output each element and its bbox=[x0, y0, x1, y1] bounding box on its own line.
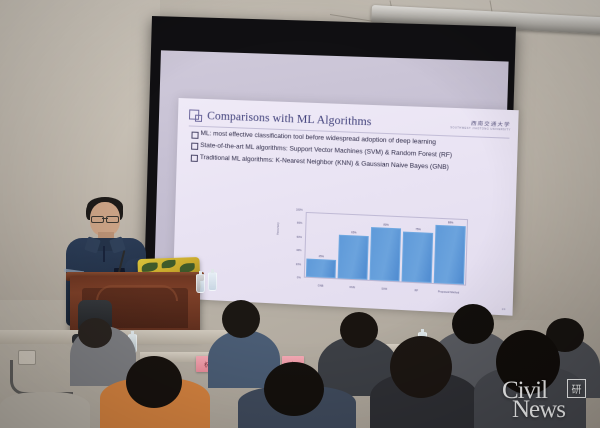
y-axis-label: Accuracy bbox=[277, 222, 280, 235]
podium-arch-trim bbox=[96, 285, 178, 301]
bar-column: 88% bbox=[435, 219, 465, 285]
y-tick-label: 0% bbox=[284, 276, 300, 280]
projection-surface: Comparisons with ML Algorithms 西南交通大学 SO… bbox=[154, 50, 508, 295]
x-tick-label: RF bbox=[402, 289, 430, 293]
bar-column: 80% bbox=[370, 216, 400, 281]
x-tick-label: GNB bbox=[307, 284, 335, 288]
bar-column: 65% bbox=[339, 214, 369, 279]
y-tick-label: 100% bbox=[286, 208, 302, 212]
bar bbox=[401, 231, 433, 283]
slide-title: Comparisons with ML Algorithms bbox=[207, 110, 372, 128]
audience-head bbox=[78, 318, 112, 348]
bar bbox=[369, 227, 401, 282]
bar-value-label: 25% bbox=[319, 255, 324, 258]
polo-placket bbox=[103, 246, 105, 262]
bar-value-label: 65% bbox=[351, 231, 356, 234]
audience-head bbox=[126, 356, 182, 408]
audience-head bbox=[452, 304, 494, 344]
watermark-line-2: News bbox=[512, 397, 565, 422]
y-tick-label: 40% bbox=[285, 249, 301, 253]
bar bbox=[306, 259, 336, 278]
bar bbox=[434, 224, 466, 284]
audience-head bbox=[340, 312, 378, 348]
bar-column: 25% bbox=[307, 213, 337, 278]
floor-cable bbox=[10, 360, 73, 395]
y-tick-label: 80% bbox=[286, 222, 302, 226]
watermark: Civil 研 News bbox=[498, 378, 594, 424]
presentation-photo: Comparisons with ML Algorithms 西南交通大学 SO… bbox=[0, 0, 600, 428]
bar bbox=[338, 235, 369, 280]
audience-head bbox=[264, 362, 324, 416]
accuracy-bar-chart: Accuracy 100%80%60%40%20%0% 25%65%80%75%… bbox=[278, 209, 479, 300]
y-tick-label: 60% bbox=[286, 235, 302, 239]
projector-screen: Comparisons with ML Algorithms 西南交通大学 SO… bbox=[144, 16, 516, 304]
watermark-badge: 研 bbox=[567, 379, 586, 398]
slide-bullet-list: ML: most effective classification tool b… bbox=[191, 130, 508, 179]
square-bullet-icon bbox=[191, 155, 198, 162]
audience-head bbox=[222, 300, 260, 338]
bar-series: 25%65%80%75%88% bbox=[305, 213, 467, 285]
bar-value-label: 75% bbox=[415, 228, 420, 231]
bar-value-label: 88% bbox=[448, 221, 454, 224]
x-tick-label: Proposed Method bbox=[434, 290, 462, 294]
slide-number: 24 bbox=[502, 307, 506, 311]
square-bullet-icon bbox=[191, 131, 198, 138]
water-bottle bbox=[208, 272, 217, 291]
audience-head bbox=[390, 336, 452, 398]
water-bottle bbox=[196, 274, 205, 293]
glasses-icon bbox=[91, 216, 119, 221]
presentation-slide: Comparisons with ML Algorithms 西南交通大学 SO… bbox=[173, 98, 519, 316]
bar-column: 75% bbox=[403, 217, 433, 283]
audience-member-foreground bbox=[0, 392, 90, 428]
bar-value-label: 80% bbox=[383, 223, 388, 226]
y-axis-ticks: 100%80%60%40%20%0% bbox=[280, 209, 302, 278]
x-tick-label: KNN bbox=[338, 285, 366, 289]
square-bullet-icon bbox=[191, 143, 198, 150]
x-axis-ticks: GNBKNNSVMRFProposed Method bbox=[305, 284, 465, 295]
y-tick-label: 20% bbox=[285, 262, 301, 266]
squares-icon bbox=[189, 109, 202, 123]
x-tick-label: SVM bbox=[370, 287, 398, 291]
